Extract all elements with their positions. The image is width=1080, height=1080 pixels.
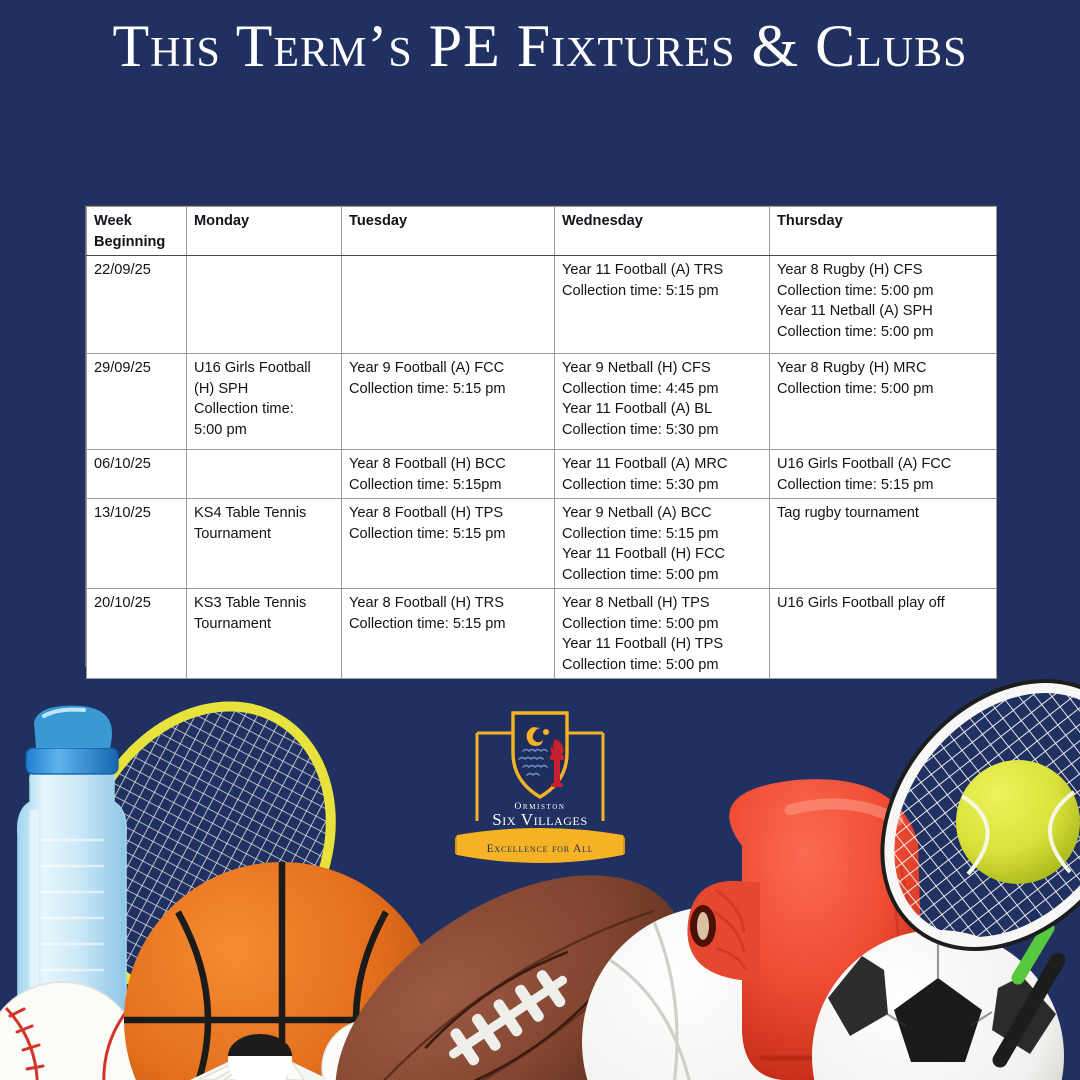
cell-wednesday: Year 9 Netball (H) CFS Collection time: … xyxy=(555,354,770,450)
volleyball-icon xyxy=(582,906,854,1080)
table-row: 06/10/25 Year 8 Football (H) BCC Collect… xyxy=(87,450,997,499)
cell-week-beginning: 20/10/25 xyxy=(87,589,187,679)
fixture-line: Collection time: 5:15 pm xyxy=(562,524,762,545)
cell-monday: U16 Girls Football (H) SPH Collection ti… xyxy=(187,354,342,450)
fixture-line: Collection time: 5:00 pm xyxy=(777,281,989,302)
cell-week-beginning: 06/10/25 xyxy=(87,450,187,499)
fixtures-table-container: Week Beginning Monday Tuesday Wednesday … xyxy=(85,205,995,667)
fixture-line: Tournament xyxy=(194,614,334,635)
cell-tuesday: Year 8 Football (H) TPS Collection time:… xyxy=(342,499,555,589)
fixture-line: Collection time: 5:30 pm xyxy=(562,420,762,441)
fixture-line: Tag rugby tournament xyxy=(777,503,989,524)
fixture-line: Collection time: 5:15 pm xyxy=(349,524,547,545)
cell-week-beginning: 22/09/25 xyxy=(87,256,187,354)
cell-week-beginning: 13/10/25 xyxy=(87,499,187,589)
fixture-line: Collection time: 5:15 pm xyxy=(562,281,762,302)
fixture-line: Year 8 Football (H) TPS xyxy=(349,503,547,524)
column-header-wednesday: Wednesday xyxy=(555,207,770,256)
fixture-line: Tournament xyxy=(194,524,334,545)
cell-wednesday: Year 11 Football (A) TRS Collection time… xyxy=(555,256,770,354)
fixture-line: Collection time: 5:15 pm xyxy=(349,379,547,400)
cell-week-beginning: 29/09/25 xyxy=(87,354,187,450)
basketball-icon xyxy=(124,862,440,1080)
fixture-line: Collection time: 5:00 pm xyxy=(777,322,989,343)
water-bottle-icon xyxy=(18,706,127,1080)
fixture-line: Collection time: 5:15pm xyxy=(349,475,547,496)
tennis-racket-icon xyxy=(830,660,1080,1060)
badminton-racket-icon xyxy=(30,662,379,1080)
fixture-line: Year 11 Football (H) FCC xyxy=(562,544,762,565)
cell-monday xyxy=(187,450,342,499)
table-row: 22/09/25 Year 11 Football (A) TRS Collec… xyxy=(87,256,997,354)
fixture-line: U16 Girls Football (A) FCC xyxy=(777,454,989,475)
fixture-line: Year 8 Football (H) TRS xyxy=(349,593,547,614)
fixture-line: Year 11 Football (A) BL xyxy=(562,399,762,420)
fixture-line: KS3 Table Tennis xyxy=(194,595,306,611)
fixture-line: Year 8 Football (H) BCC xyxy=(349,454,547,475)
fixture-line: Year 9 Netball (H) CFS xyxy=(562,358,762,379)
cell-monday: KS4 Table Tennis Tournament xyxy=(187,499,342,589)
fixture-line: Collection time: 5:00 pm xyxy=(562,655,762,676)
fixture-line: Collection time: 5:00 pm xyxy=(562,565,762,586)
fixture-line: KS4 Table Tennis xyxy=(194,505,306,521)
cell-monday xyxy=(187,256,342,354)
table-row: 13/10/25 KS4 Table Tennis Tournament Yea… xyxy=(87,499,997,589)
boxing-glove-icon xyxy=(687,779,924,1080)
fixture-line: Year 11 Football (H) TPS xyxy=(562,634,762,655)
fixture-line: Year 8 Rugby (H) MRC xyxy=(777,358,989,379)
fixture-line: U16 Girls Football xyxy=(194,358,334,379)
cell-tuesday: Year 8 Football (H) TRS Collection time:… xyxy=(342,589,555,679)
crest-motto: Excellence for All xyxy=(487,843,594,855)
fixture-line: Collection time: 4:45 pm xyxy=(562,379,762,400)
fixture-line: Collection time: 5:30 pm xyxy=(562,475,762,496)
fixture-line: Year 11 Football (A) MRC xyxy=(562,454,762,475)
fixture-line: Year 8 Netball (H) TPS xyxy=(562,593,762,614)
pe-fixtures-poster: This Term’s PE Fixtures & Clubs Week Beg… xyxy=(0,0,1080,1080)
table-row: 29/09/25 U16 Girls Football (H) SPH Coll… xyxy=(87,354,997,450)
page-title: This Term’s PE Fixtures & Clubs xyxy=(60,8,1020,84)
fixture-line: U16 Girls Football play off xyxy=(777,593,989,614)
fixture-line: Year 9 Netball (A) BCC xyxy=(562,503,762,524)
fixture-line: (H) SPH xyxy=(194,379,334,400)
golf-ball-icon xyxy=(322,1020,418,1080)
cell-wednesday: Year 8 Netball (H) TPS Collection time: … xyxy=(555,589,770,679)
fixture-line: Year 9 Football (A) FCC xyxy=(349,358,547,379)
cell-thursday: Year 8 Rugby (H) MRC Collection time: 5:… xyxy=(770,354,997,450)
cell-wednesday: Year 11 Football (A) MRC Collection time… xyxy=(555,450,770,499)
cell-thursday: U16 Girls Football play off xyxy=(770,589,997,679)
cell-thursday: Tag rugby tournament xyxy=(770,499,997,589)
cell-thursday: U16 Girls Football (A) FCC Collection ti… xyxy=(770,450,997,499)
fixture-line: Collection time: xyxy=(194,401,294,417)
fixtures-table: Week Beginning Monday Tuesday Wednesday … xyxy=(86,206,997,679)
fixture-line: Collection time: 5:15 pm xyxy=(349,614,547,635)
fixture-line: Collection time: 5:00 pm xyxy=(777,379,989,400)
cell-monday: KS3 Table Tennis Tournament xyxy=(187,589,342,679)
shuttlecock-icon xyxy=(190,1034,330,1080)
soccer-ball-icon xyxy=(812,930,1064,1080)
tennis-ball-icon xyxy=(956,760,1080,884)
school-logo: Ormiston Six Villages Academy Excellence… xyxy=(455,705,625,870)
cell-tuesday: Year 9 Football (A) FCC Collection time:… xyxy=(342,354,555,450)
table-row: 20/10/25 KS3 Table Tennis Tournament Yea… xyxy=(87,589,997,679)
cell-thursday: Year 8 Rugby (H) CFS Collection time: 5:… xyxy=(770,256,997,354)
column-header-tuesday: Tuesday xyxy=(342,207,555,256)
crest-line-six-villages: Six Villages xyxy=(492,810,588,829)
column-header-week-beginning: Week Beginning xyxy=(87,207,187,256)
cell-tuesday: Year 8 Football (H) BCC Collection time:… xyxy=(342,450,555,499)
cell-wednesday: Year 9 Netball (A) BCC Collection time: … xyxy=(555,499,770,589)
fixture-line: 5:00 pm xyxy=(194,420,334,441)
column-header-monday: Monday xyxy=(187,207,342,256)
cell-tuesday xyxy=(342,256,555,354)
column-header-thursday: Thursday xyxy=(770,207,997,256)
fixture-line: Collection time: 5:00 pm xyxy=(562,614,762,635)
table-header-row: Week Beginning Monday Tuesday Wednesday … xyxy=(87,207,997,256)
fixture-line: Year 11 Football (A) TRS xyxy=(562,260,762,281)
fixture-line: Collection time: 5:15 pm xyxy=(777,475,989,496)
baseball-icon xyxy=(0,982,140,1080)
fixture-line: Year 11 Netball (A) SPH xyxy=(777,301,989,322)
fixture-line: Year 8 Rugby (H) CFS xyxy=(777,260,989,281)
